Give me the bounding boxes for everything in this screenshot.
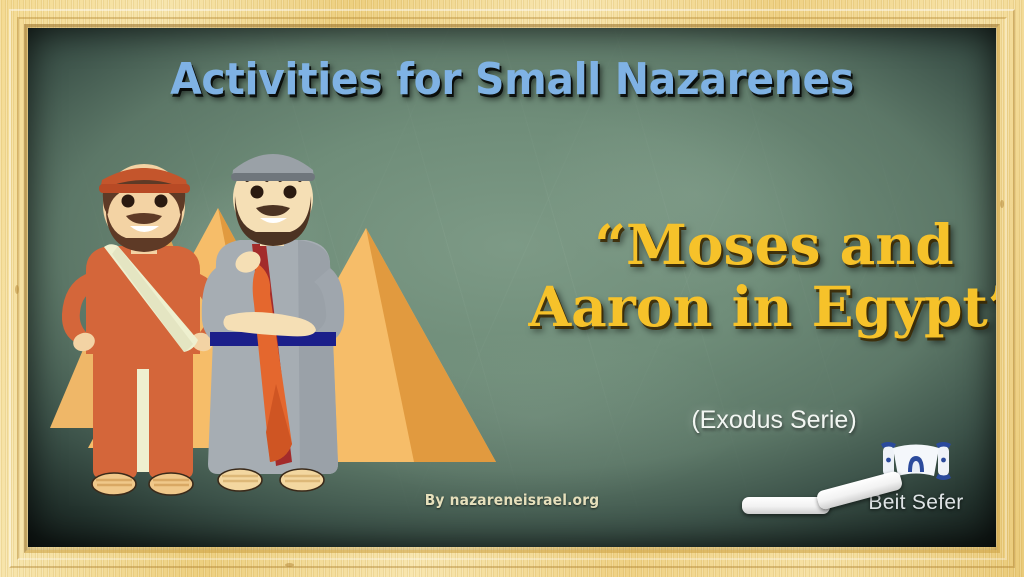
- scroll-roller-right: [936, 442, 951, 480]
- lesson-title: “Moses and Aaron in Egypt”: [500, 214, 996, 337]
- wood-knot: [1000, 200, 1004, 208]
- lesson-title-line-2: Aaron in Egypt”: [500, 276, 996, 338]
- wood-knot: [285, 563, 294, 567]
- page-title: Activities for Small Nazarenes: [62, 54, 962, 105]
- series-subtitle: (Exodus Serie): [500, 406, 996, 435]
- slide-canvas: Activities for Small Nazarenes “Moses an…: [0, 0, 1024, 577]
- chalkboard: Activities for Small Nazarenes “Moses an…: [28, 28, 996, 547]
- characters-illustration: [38, 154, 348, 514]
- lesson-title-line-1: “Moses and: [500, 214, 996, 276]
- wood-knot: [15, 285, 19, 294]
- character-aaron: [62, 164, 224, 495]
- character-moses: [202, 154, 344, 491]
